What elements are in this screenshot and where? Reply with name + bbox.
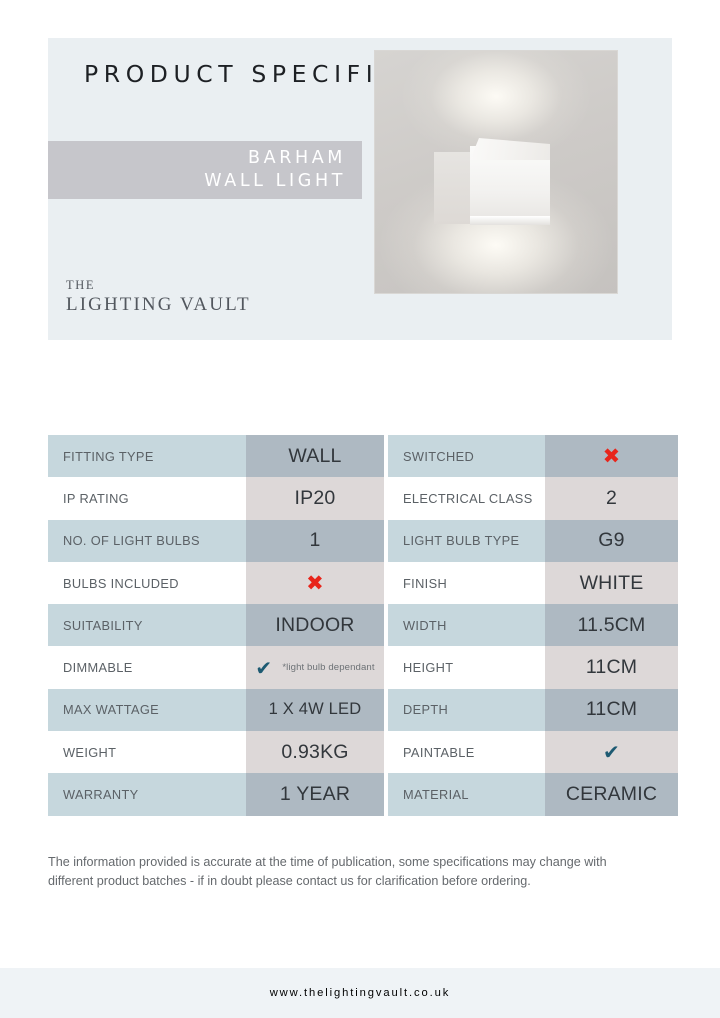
spec-table-right: SWITCHED✖ELECTRICAL CLASS2LIGHT BULB TYP… [388,435,678,816]
spec-value: IP20 [246,477,384,519]
table-row: IP RATINGIP20 [48,477,384,519]
table-row: PAINTABLE✔ [388,731,678,773]
spec-label: WARRANTY [48,773,246,815]
brand-logo-the: THE [66,278,251,293]
spec-label: BULBS INCLUDED [48,562,246,604]
table-row: FITTING TYPEWALL [48,435,384,477]
spec-value-note: *light bulb dependant [282,662,374,673]
table-row: ELECTRICAL CLASS2 [388,477,678,519]
footer-website-link[interactable]: www.thelightingvault.co.uk [270,987,451,999]
check-icon: ✔ [603,742,620,762]
table-row: BULBS INCLUDED✖ [48,562,384,604]
spec-value: 2 [545,477,678,519]
table-row: MATERIALCERAMIC [388,773,678,815]
table-row: HEIGHT11CM [388,646,678,688]
check-icon: ✔ [255,658,272,678]
spec-value: 11CM [545,646,678,688]
spec-label: FITTING TYPE [48,435,246,477]
spec-label: WEIGHT [48,731,246,773]
table-row: LIGHT BULB TYPEG9 [388,520,678,562]
cross-icon: ✖ [603,446,621,467]
product-name-line-1: BARHAM [248,147,346,170]
spec-value: WALL [246,435,384,477]
spec-value: ✖ [545,435,678,477]
spec-label: PAINTABLE [388,731,545,773]
table-row: WEIGHT0.93KG [48,731,384,773]
brand-logo-name: LIGHTING VAULT [66,293,251,316]
spec-value: 0.93KG [246,731,384,773]
product-photo [374,50,618,294]
cube-side-face [434,152,470,224]
table-row: SWITCHED✖ [388,435,678,477]
spec-value: WHITE [545,562,678,604]
table-row: DEPTH11CM [388,689,678,731]
spec-label: SWITCHED [388,435,545,477]
spec-label: HEIGHT [388,646,545,688]
table-row: WARRANTY1 YEAR [48,773,384,815]
table-row: WIDTH11.5CM [388,604,678,646]
spec-value: 1 X 4W LED [246,689,384,731]
table-row: DIMMABLE✔*light bulb dependant [48,646,384,688]
spec-label: NO. OF LIGHT BULBS [48,520,246,562]
spec-value: ✔*light bulb dependant [246,646,384,688]
spec-label: MAX WATTAGE [48,689,246,731]
spec-label: DIMMABLE [48,646,246,688]
spec-label: LIGHT BULB TYPE [388,520,545,562]
spec-value: G9 [545,520,678,562]
spec-value: ✖ [246,562,384,604]
table-row: SUITABILITYINDOOR [48,604,384,646]
disclaimer-text: The information provided is accurate at … [48,853,648,891]
spec-table-left: FITTING TYPEWALLIP RATINGIP20NO. OF LIGH… [48,435,384,816]
cross-icon: ✖ [306,573,324,594]
cube-bottom-glow [470,216,550,225]
spec-label: ELECTRICAL CLASS [388,477,545,519]
spec-label: FINISH [388,562,545,604]
spec-label: DEPTH [388,689,545,731]
footer-bar: www.thelightingvault.co.uk [0,968,720,1018]
product-name-banner: BARHAM WALL LIGHT [48,141,362,199]
spec-value: CERAMIC [545,773,678,815]
brand-logo: THE LIGHTING VAULT [66,278,251,316]
spec-value: 11CM [545,689,678,731]
table-row: NO. OF LIGHT BULBS1 [48,520,384,562]
spec-value: ✔ [545,731,678,773]
spec-label: SUITABILITY [48,604,246,646]
table-row: MAX WATTAGE1 X 4W LED [48,689,384,731]
product-name-line-2: WALL LIGHT [204,170,346,193]
wall-light-cube-icon [434,138,550,224]
spec-value: 1 YEAR [246,773,384,815]
spec-value: 1 [246,520,384,562]
specification-tables: FITTING TYPEWALLIP RATINGIP20NO. OF LIGH… [48,435,678,816]
spec-label: MATERIAL [388,773,545,815]
spec-label: IP RATING [48,477,246,519]
spec-value: INDOOR [246,604,384,646]
table-row: FINISHWHITE [388,562,678,604]
spec-value: 11.5CM [545,604,678,646]
spec-label: WIDTH [388,604,545,646]
